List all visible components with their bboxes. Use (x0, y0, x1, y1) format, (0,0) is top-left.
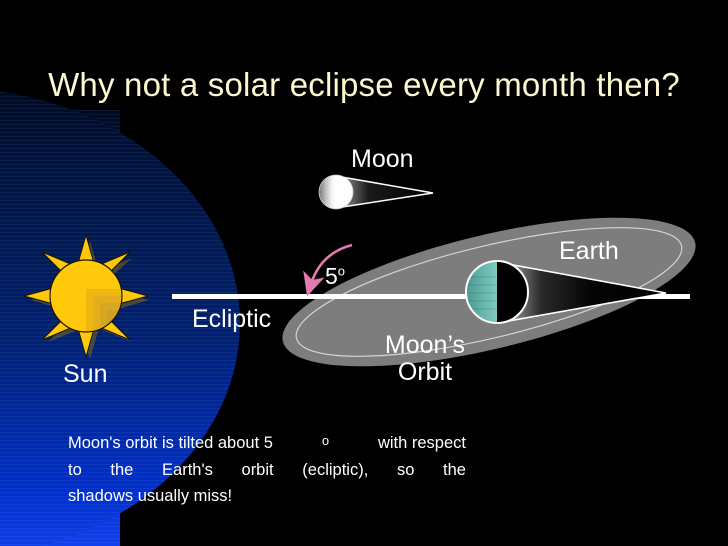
caption-text: Moon's orbit is tilted about 5o with res… (68, 430, 466, 510)
caption-line-2: totheEarth'sorbit(ecliptic),sothe (68, 457, 466, 484)
caption-line-3: shadows usually miss! (68, 483, 466, 510)
sun-icon (24, 235, 149, 359)
label-moons-orbit-line2: Orbit (382, 359, 468, 386)
caption-line-1: Moon's orbit is tilted about 5o with res… (68, 430, 466, 457)
label-ecliptic: Ecliptic (192, 306, 271, 333)
label-sun: Sun (63, 361, 107, 388)
label-moon: Moon (351, 146, 414, 173)
label-moons-orbit: Moon’s Orbit (382, 332, 468, 386)
moon-with-shadow-cone (319, 175, 433, 209)
caption-line-1-rest: with respect (378, 430, 466, 457)
label-tilt-angle: 5o (325, 264, 345, 289)
tilt-angle-value: 5 (325, 263, 338, 289)
label-moons-orbit-line1: Moon’s (382, 332, 468, 359)
tilt-angle-degree-symbol: o (338, 263, 345, 278)
slide-canvas: Why not a solar eclipse every month then… (0, 0, 728, 546)
label-earth: Earth (559, 238, 619, 265)
caption-degree-symbol: o (322, 430, 329, 457)
caption-line-1-text: Moon's orbit is tilted about 5 (68, 430, 273, 457)
